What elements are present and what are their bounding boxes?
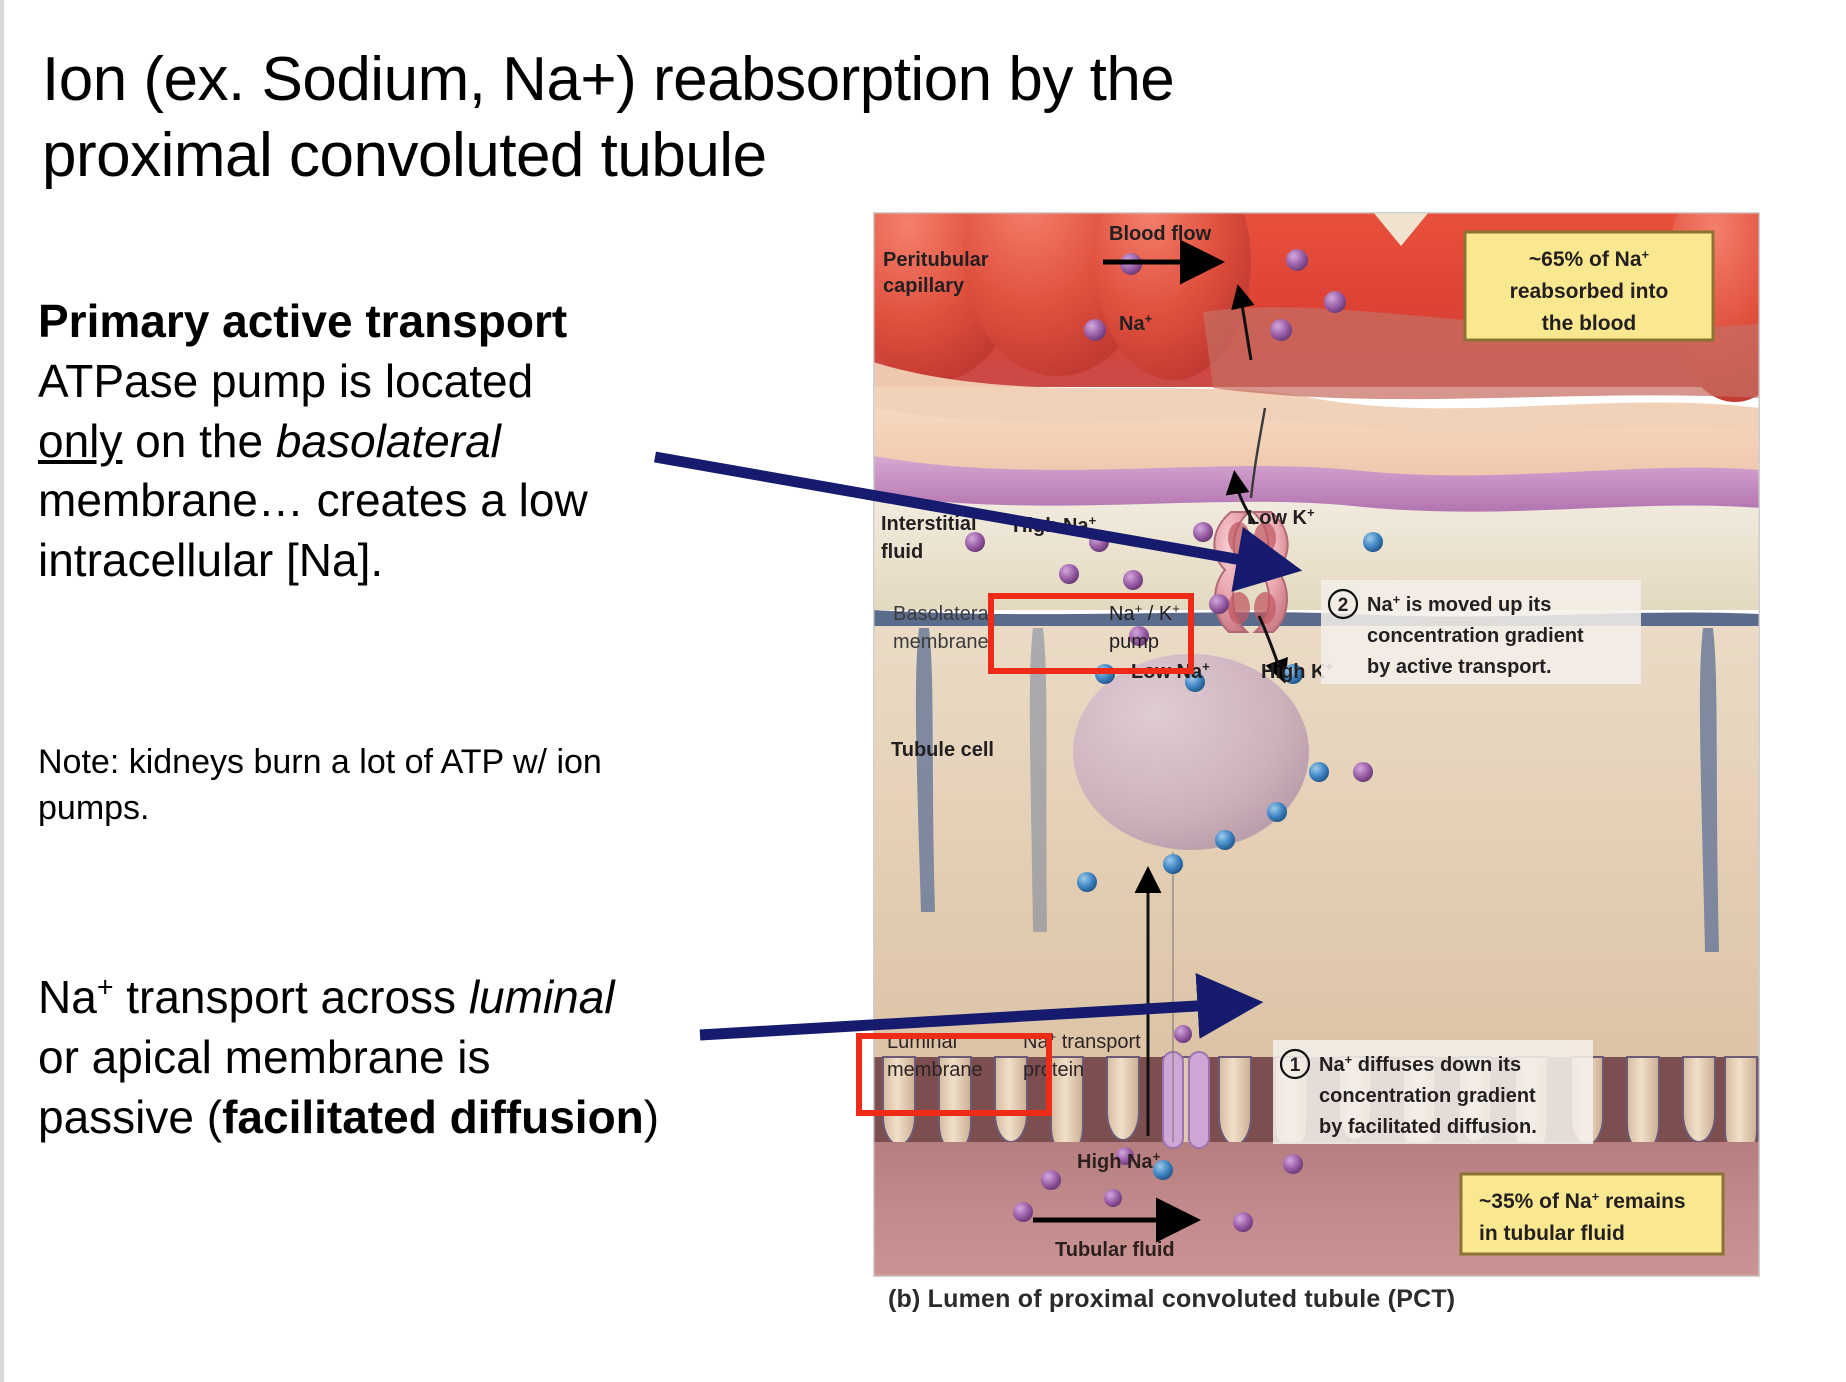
luminal-na-superscript: + — [97, 972, 114, 1004]
svg-text:2: 2 — [1338, 595, 1349, 616]
label-peritubular-line1: Peritubular — [883, 249, 989, 271]
note-text: Note: kidneys burn a lot of ATP w/ ion p… — [38, 743, 602, 827]
yellow-box-35-percent: ~35% of Na+ remains in tubular fluid — [1461, 1174, 1723, 1254]
label-low-k: Low K+ — [1247, 505, 1315, 529]
note-block: Note: kidneys burn a lot of ATP w/ ion p… — [38, 740, 678, 831]
label-basolateral-membrane-line1: Basolateral — [893, 603, 993, 625]
callout-2: 2 Na+ is moved up its concentration grad… — [1321, 580, 1641, 684]
primary-transport-heading: Primary active transport — [38, 295, 567, 347]
luminal-transport-block: Na+ transport across luminal or apical m… — [38, 968, 678, 1147]
label-peritubular-line2: capillary — [883, 275, 965, 297]
emphasis-basolateral: basolateral — [276, 415, 501, 467]
label-basolateral-membrane-line2: membrane — [893, 631, 989, 653]
luminal-text2: or apical membrane is — [38, 1031, 491, 1083]
luminal-na-prefix: Na — [38, 971, 97, 1023]
luminal-text3-post: ) — [644, 1091, 659, 1143]
svg-text:by active transport.: by active transport. — [1367, 656, 1552, 678]
emphasis-facilitated-diffusion: facilitated diffusion — [222, 1091, 644, 1143]
label-high-na-lumen: High Na+ — [1077, 1149, 1161, 1173]
svg-text:reabsorbed into: reabsorbed into — [1510, 280, 1669, 303]
primary-active-transport-block: Primary active transport ATPase pump is … — [38, 292, 678, 591]
svg-text:by facilitated diffusion.: by facilitated diffusion. — [1319, 1116, 1537, 1138]
label-high-na-interstitial: High Na+ — [1013, 513, 1097, 537]
tubule-cell-region — [873, 626, 1760, 1066]
label-tubular-fluid: Tubular fluid — [1055, 1239, 1175, 1261]
potassium-ions-interstitial — [1363, 532, 1383, 552]
svg-text:~65% of Na+: ~65% of Na+ — [1529, 247, 1650, 271]
yellow-box-65-percent: ~65% of Na+ reabsorbed into the blood — [1465, 232, 1713, 340]
svg-text:1: 1 — [1290, 1055, 1301, 1076]
label-interstitial-line1: Interstitial — [881, 513, 977, 535]
luminal-text3-pre: passive ( — [38, 1091, 222, 1143]
primary-transport-line4: intracellular [Na]. — [38, 534, 383, 586]
primary-transport-line2-mid: on the — [122, 415, 275, 467]
figure-caption: (b) Lumen of proximal convoluted tubule … — [888, 1285, 1455, 1314]
left-edge-rule — [0, 0, 4, 1382]
svg-text:concentration gradient: concentration gradient — [1319, 1085, 1536, 1107]
svg-text:in tubular fluid: in tubular fluid — [1479, 1222, 1625, 1245]
annotation-box-basolateral-membrane — [988, 593, 1194, 674]
emphasis-only: only — [38, 415, 122, 467]
svg-text:the blood: the blood — [1542, 312, 1636, 335]
primary-transport-line1: ATPase pump is located — [38, 355, 533, 407]
primary-transport-line3: membrane… creates a low — [38, 474, 588, 526]
label-tubule-cell: Tubule cell — [891, 739, 994, 761]
annotation-box-luminal-membrane — [856, 1033, 1052, 1116]
label-interstitial-line2: fluid — [881, 541, 923, 563]
emphasis-luminal: luminal — [469, 971, 615, 1023]
tubule-diagram-figure: Peritubular capillary Blood flow Na+ Int… — [873, 212, 1760, 1277]
page-title: Ion (ex. Sodium, Na+) reabsorption by th… — [42, 42, 1362, 193]
label-blood-flow: Blood flow — [1109, 223, 1212, 245]
svg-text:concentration gradient: concentration gradient — [1367, 625, 1584, 647]
svg-text:~35% of Na+ remains: ~35% of Na+ remains — [1479, 1189, 1686, 1213]
luminal-text1: transport across — [113, 971, 468, 1023]
callout-1: 1 Na+ diffuses down its concentration gr… — [1273, 1040, 1593, 1144]
